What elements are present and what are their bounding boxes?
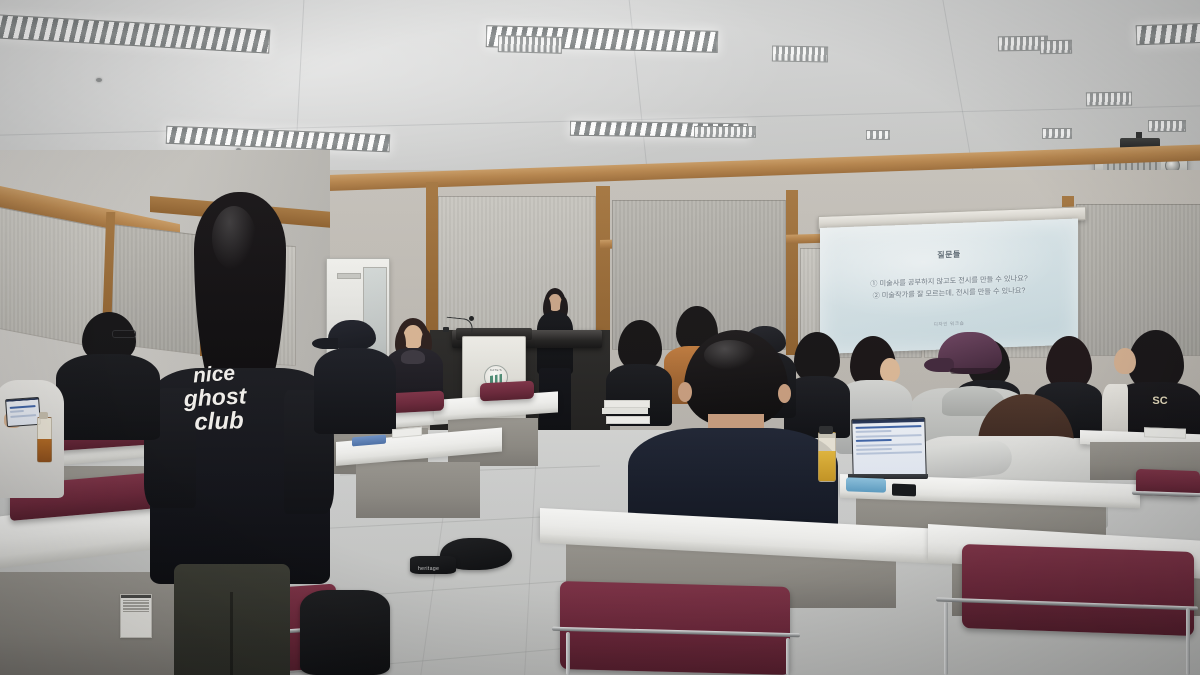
blue-cloth[interactable] [846, 477, 886, 492]
ceiling-vent [1086, 92, 1132, 107]
hair-highlight [212, 206, 256, 270]
desk-label-line [123, 605, 149, 606]
scarf [401, 350, 425, 364]
desk-label-line [123, 602, 149, 603]
desk-label [120, 594, 152, 638]
drink-bottle[interactable] [37, 417, 52, 463]
ceiling-lamp [1136, 23, 1200, 46]
drink-bottle[interactable] [818, 432, 836, 482]
desk-label-line [123, 608, 149, 609]
cabinet-handle[interactable] [337, 273, 361, 279]
podium-emblem-caption: KATE'S [485, 368, 507, 372]
chair-leg [786, 638, 790, 675]
seated-student-left-3 [0, 360, 70, 500]
bottle-cap [819, 426, 833, 434]
chair-leg [1186, 608, 1190, 675]
paper-stack[interactable] [1144, 427, 1186, 438]
desk-label-line [123, 600, 149, 601]
desk-label-line [123, 611, 149, 612]
lecture-hall-photo: 질문들 ① 미술사를 공부하지 않고도 전시를 만들 수 있나요? ② 미술작가… [0, 0, 1200, 675]
hair-shine [704, 340, 756, 370]
glasses-icon [112, 330, 136, 338]
standing-student-foreground: nice ghost club [168, 192, 318, 675]
laptop-right[interactable] [851, 417, 927, 479]
chair[interactable] [480, 381, 534, 402]
cap-seam [950, 368, 998, 374]
head [403, 325, 423, 349]
hair [1128, 330, 1184, 390]
ceiling-vent [1042, 128, 1072, 139]
seated-student-left-2 [318, 318, 392, 428]
ceiling-vent [772, 46, 828, 63]
head [1114, 348, 1136, 374]
microphone-head-icon [469, 316, 474, 321]
chair[interactable] [962, 544, 1194, 636]
chair-leg [566, 632, 570, 675]
bottle-cap [39, 412, 48, 419]
laptop-left[interactable] [5, 397, 41, 427]
seated-student-left-1 [60, 312, 156, 432]
ceiling-vent [1040, 40, 1072, 55]
cap-brim [312, 338, 338, 349]
ear [778, 384, 791, 403]
desk-label-header [121, 595, 151, 598]
trouser-seam [230, 592, 233, 675]
phone[interactable] [892, 484, 916, 497]
bag-brand-text: heritage [418, 566, 439, 572]
backpack-on-floor[interactable] [300, 590, 390, 675]
smoke-detector-icon [96, 78, 102, 82]
torso [314, 348, 396, 434]
book-stack[interactable] [606, 416, 650, 424]
book-stack[interactable] [602, 408, 648, 414]
ceiling-vent [498, 35, 562, 54]
ceiling-vent [866, 130, 890, 140]
ceiling-vent [1148, 120, 1186, 132]
chair-leg [944, 602, 948, 675]
ceiling-vent [694, 126, 756, 138]
head [880, 358, 900, 382]
desk-modesty-panel [356, 462, 480, 518]
torso [56, 354, 160, 440]
book-stack[interactable] [604, 400, 650, 408]
laptop-content [855, 425, 922, 457]
ear [678, 382, 692, 402]
